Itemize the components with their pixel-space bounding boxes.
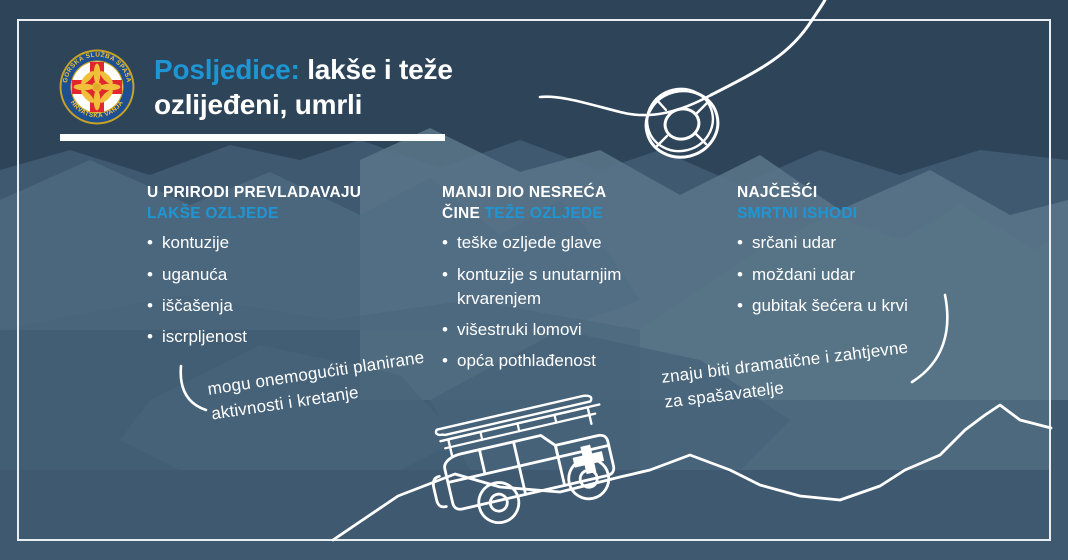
heading-line-2-accent: LAKŠE OZLJEDE [147,205,279,222]
bullet-list: kontuzije uganuća iščašenja iscrpljenost [147,231,442,349]
column-heading: MANJI DIO NESREĆA ČINE TEŽE OZLJEDE [442,183,737,224]
list-item: kontuzije s unutarnjim krvarenjem [442,263,692,312]
list-item: iščašenja [147,294,397,318]
bullet-list: teške ozljede glave kontuzije s unutarnj… [442,231,737,373]
list-item: višestruki lomovi [442,318,692,342]
heading-line-1: U PRIRODI PREVLADAVAJU [147,184,361,201]
bullet-list: srčani udar moždani udar gubitak šećera … [737,231,1017,318]
heading-line-2: ČINE [442,205,485,222]
column-teze-ozljede: MANJI DIO NESREĆA ČINE TEŽE OZLJEDE tešk… [442,183,737,381]
column-heading: U PRIRODI PREVLADAVAJU LAKŠE OZLJEDE [147,183,442,224]
list-item: srčani udar [737,231,987,255]
list-item: gubitak šećera u krvi [737,294,987,318]
column-heading: NAJČEŠĆI SMRTNI ISHODI [737,183,1017,224]
list-item: kontuzije [147,231,397,255]
title-underline-rule [60,134,445,141]
list-item: uganuća [147,263,397,287]
header: GORSKA SLUŽBA SPAŠA HRVATSKA VANJA Poslj… [58,44,484,126]
title-accent: Posljedice: [154,54,300,85]
infographic-canvas: GORSKA SLUŽBA SPAŠA HRVATSKA VANJA Poslj… [0,0,1068,560]
list-item: opća pothlađenost [442,349,692,373]
page-title: Posljedice: lakše i teže ozlijeđeni, umr… [154,52,484,123]
heading-line-1: NAJČEŠĆI [737,184,817,201]
list-item: iscrpljenost [147,325,397,349]
heading-line-2-accent: SMRTNI ISHODI [737,205,857,222]
title-block: Posljedice: lakše i teže ozlijeđeni, umr… [154,44,484,123]
heading-line-2-accent: TEŽE OZLJEDE [485,205,603,222]
heading-line-1: MANJI DIO NESREĆA [442,184,606,201]
hgss-crest-logo: GORSKA SLUŽBA SPAŠA HRVATSKA VANJA [58,48,136,126]
list-item: teške ozljede glave [442,231,692,255]
list-item: moždani udar [737,263,987,287]
